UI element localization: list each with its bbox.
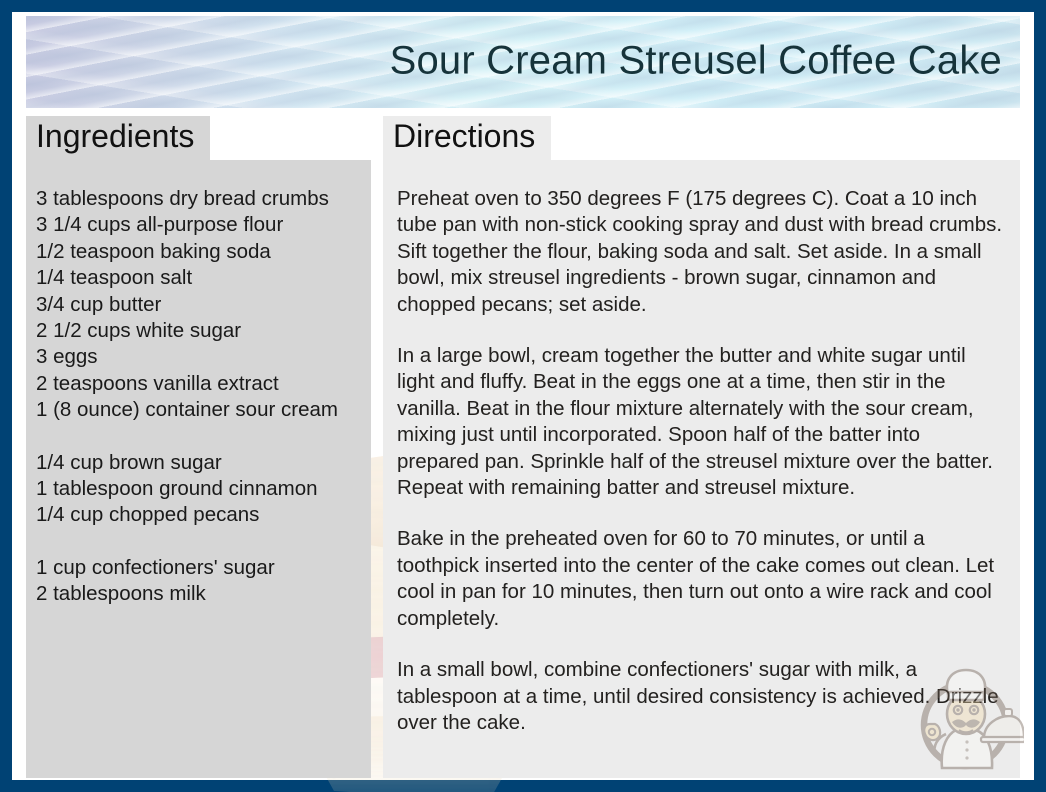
ingredients-group-3: 1 cup confectioners' sugar 2 tablespoons… xyxy=(36,555,361,608)
ingredient-item: 1/4 teaspoon salt xyxy=(36,265,361,291)
ingredients-group-2: 1/4 cup brown sugar 1 tablespoon ground … xyxy=(36,450,361,529)
directions-panel: Preheat oven to 350 degrees F (175 degre… xyxy=(383,160,1020,778)
ingredient-item: 1/2 teaspoon baking soda xyxy=(36,239,361,265)
column-gap xyxy=(371,116,383,780)
direction-step: Bake in the preheated oven for 60 to 70 … xyxy=(397,526,1004,632)
title-banner: Sour Cream Streusel Coffee Cake xyxy=(26,16,1020,108)
direction-step: In a small bowl, combine confectioners' … xyxy=(397,657,1004,736)
ingredient-item: 3/4 cup butter xyxy=(36,292,361,318)
ingredient-item: 3 tablespoons dry bread crumbs xyxy=(36,186,361,212)
ingredients-group-1: 3 tablespoons dry bread crumbs 3 1/4 cup… xyxy=(36,186,361,424)
ingredients-heading: Ingredients xyxy=(26,116,210,160)
card-inner: Sour Cream Streusel Coffee Cake xyxy=(12,12,1034,780)
page-title: Sour Cream Streusel Coffee Cake xyxy=(390,39,1002,84)
recipe-card: Sour Cream Streusel Coffee Cake xyxy=(0,0,1046,792)
ingredient-item: 2 teaspoons vanilla extract xyxy=(36,371,361,397)
ingredient-item: 2 tablespoons milk xyxy=(36,581,361,607)
direction-step: Preheat oven to 350 degrees F (175 degre… xyxy=(397,186,1004,318)
directions-column: Directions Preheat oven to 350 degrees F… xyxy=(383,116,1020,780)
ingredient-item: 1/4 cup brown sugar xyxy=(36,450,361,476)
ingredients-panel: 3 tablespoons dry bread crumbs 3 1/4 cup… xyxy=(26,160,371,778)
content-columns: Ingredients 3 tablespoons dry bread crum… xyxy=(26,116,1020,780)
ingredient-item: 3 1/4 cups all-purpose flour xyxy=(36,212,361,238)
ingredient-item: 1 cup confectioners' sugar xyxy=(36,555,361,581)
directions-heading: Directions xyxy=(383,116,551,160)
ingredient-item: 3 eggs xyxy=(36,344,361,370)
ingredient-item: 1 tablespoon ground cinnamon xyxy=(36,476,361,502)
ingredient-item: 1/4 cup chopped pecans xyxy=(36,502,361,528)
ingredient-item: 1 (8 ounce) container sour cream xyxy=(36,397,361,423)
direction-step: In a large bowl, cream together the butt… xyxy=(397,343,1004,501)
ingredients-divider xyxy=(36,529,361,555)
ingredients-column: Ingredients 3 tablespoons dry bread crum… xyxy=(26,116,371,780)
ingredient-item: 2 1/2 cups white sugar xyxy=(36,318,361,344)
ingredients-divider xyxy=(36,424,361,450)
